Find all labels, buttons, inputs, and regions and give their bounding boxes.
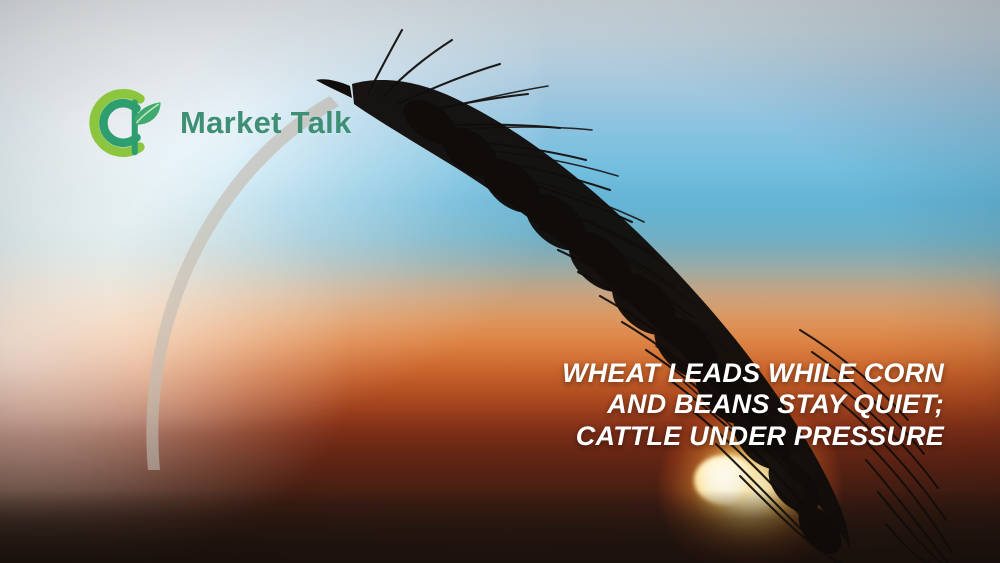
headline-line-2: AND BEANS STAY QUIET;: [424, 389, 944, 420]
foreground-shadow-band: [0, 490, 1000, 563]
title-card: Market Talk WHEAT LEADS WHILE CORN AND B…: [0, 0, 1000, 563]
headline-line-3: CATTLE UNDER PRESSURE: [424, 421, 944, 452]
headline-line-1: WHEAT LEADS WHILE CORN: [424, 358, 944, 389]
brand-name: Market Talk: [180, 105, 352, 141]
brand-logo: Market Talk: [78, 80, 352, 166]
headline: WHEAT LEADS WHILE CORN AND BEANS STAY QU…: [424, 358, 944, 452]
leaf-sprout-circle-icon: [78, 80, 164, 166]
